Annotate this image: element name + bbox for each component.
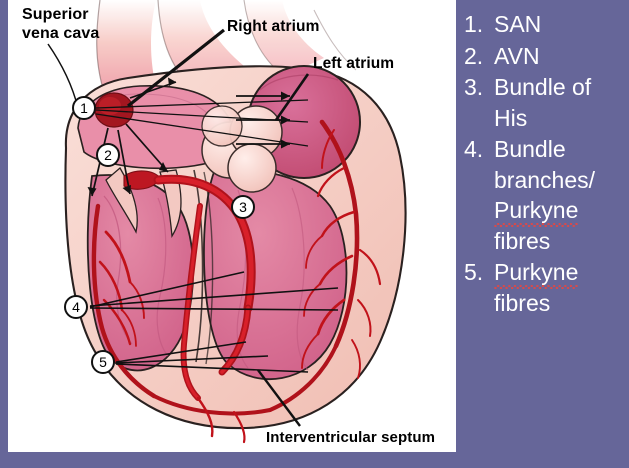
label-svc-line2: vena cava [22, 25, 99, 42]
slide-canvas: Superior vena cava Right atrium Left atr… [0, 0, 629, 468]
marker-3-bundle-of-his[interactable]: 3 [231, 195, 255, 219]
list-item[interactable]: 3. Bundle of His [458, 72, 629, 133]
list-item-number: 3. [458, 72, 494, 103]
list-item[interactable]: 1. SAN [458, 9, 629, 40]
list-item-misspelled-word: Purkyne [494, 259, 578, 289]
list-item-label: Bundle of His [494, 72, 629, 133]
list-item-label: SAN [494, 9, 629, 40]
label-svc-line1: Superior [22, 6, 89, 23]
label-superior-vena-cava: Superior vena cava [22, 5, 99, 43]
list-item-number: 2. [458, 41, 494, 72]
list-item-text-prefix: Bundle branches/ [494, 136, 595, 193]
list-item-text-suffix: fibres [494, 228, 550, 254]
list-item-number: 4. [458, 134, 494, 165]
label-right-atrium: Right atrium [227, 18, 319, 36]
marker-4-bundle-branches[interactable]: 4 [64, 295, 88, 319]
list-item[interactable]: 2. AVN [458, 41, 629, 72]
list-item-text-suffix: fibres [494, 290, 550, 316]
list-item-number: 1. [458, 9, 494, 40]
marker-2-avn[interactable]: 2 [96, 143, 120, 167]
list-item-label: Bundle branches/ Purkyne fibres [494, 134, 629, 256]
conduction-structures-list: 1. SAN 2. AVN 3. Bundle of His 4. Bundle… [458, 0, 629, 468]
list-item-number: 5. [458, 257, 494, 288]
list-item-label: Purkyne fibres [494, 257, 629, 318]
list-item[interactable]: 5. Purkyne fibres [458, 257, 629, 318]
list-item[interactable]: 4. Bundle branches/ Purkyne fibres [458, 134, 629, 256]
list-item-misspelled-word: Purkyne [494, 197, 578, 227]
label-interventricular-septum: Interventricular septum [266, 429, 435, 446]
heart-conduction-diagram: Superior vena cava Right atrium Left atr… [8, 0, 456, 452]
marker-5-purkyne-fibres[interactable]: 5 [91, 350, 115, 374]
label-left-atrium: Left atrium [313, 55, 394, 73]
marker-1-san[interactable]: 1 [72, 96, 96, 120]
list-item-label: AVN [494, 41, 629, 72]
